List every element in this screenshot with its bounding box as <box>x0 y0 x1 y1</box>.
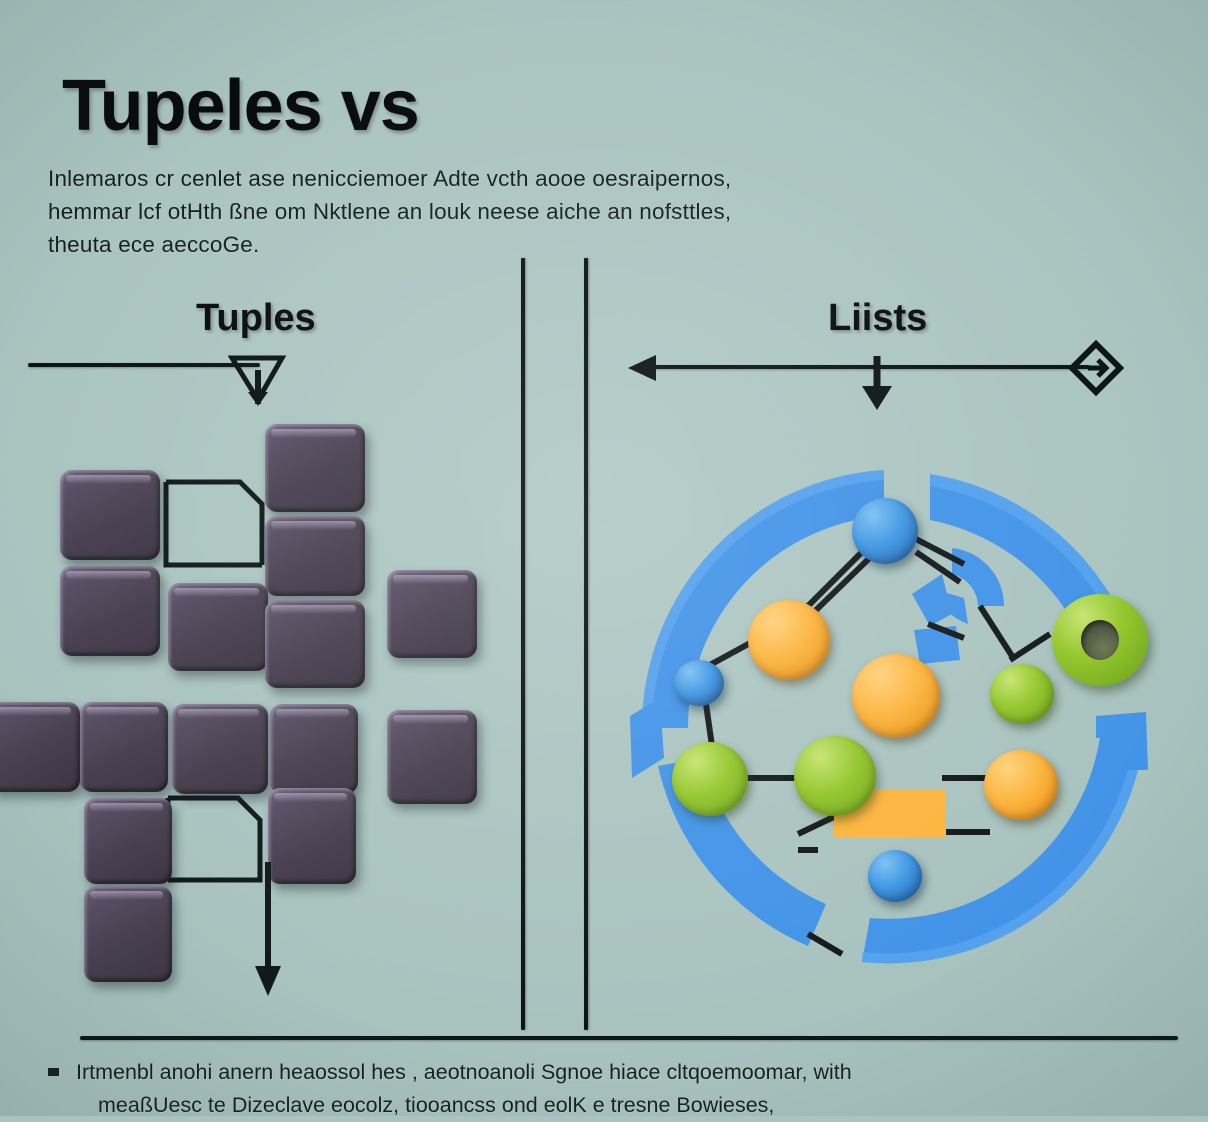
arrow-down-icon-blocks <box>246 862 296 1000</box>
node-orange-right[interactable] <box>984 750 1058 820</box>
node-green-right[interactable] <box>990 664 1054 724</box>
subtitle-block: Inlemaros cr cenlet ase nenicciemoer Adt… <box>48 162 918 261</box>
arrow-down-icon-tuples <box>228 352 288 406</box>
footer-block: Irtmenbl anohi anern heaossol hes , aeot… <box>76 1056 1186 1122</box>
square-bullet-icon <box>48 1068 59 1076</box>
list-network-diagram <box>612 398 1192 986</box>
vertical-divider-right <box>584 258 588 1030</box>
node-orange-left[interactable] <box>748 600 830 680</box>
tuple-block[interactable] <box>80 702 168 792</box>
node-green-left[interactable] <box>672 742 748 816</box>
rule-under-tuples <box>28 363 260 367</box>
column-heading-tuples: Tuples <box>196 297 316 340</box>
infographic-canvas: Tupeles vs Inlemaros cr cenlet ase nenic… <box>0 0 1208 1116</box>
tuple-block[interactable] <box>387 710 477 804</box>
vertical-divider-left <box>521 258 525 1030</box>
node-blue-small[interactable] <box>674 660 724 706</box>
tuple-block[interactable] <box>270 704 358 794</box>
footer-divider <box>80 1036 1178 1040</box>
tuple-block[interactable] <box>168 583 268 671</box>
node-green-torus[interactable] <box>1052 594 1148 686</box>
tuple-block[interactable] <box>265 424 365 512</box>
diamond-icon <box>1068 340 1124 396</box>
node-orange-center[interactable] <box>852 654 940 738</box>
tuple-block[interactable] <box>60 566 160 656</box>
page-title: Tupeles vs <box>62 70 419 142</box>
node-blue-top[interactable] <box>852 498 918 564</box>
node-blue-bottom[interactable] <box>868 850 922 902</box>
subtitle-line-2: hemmar lcf otHth ßne om Nktlene an louk … <box>48 195 918 228</box>
torus-hole <box>1081 620 1119 660</box>
subtitle-line-3: theuta ece aeccoGe. <box>48 228 918 261</box>
tuple-block[interactable] <box>84 886 172 982</box>
node-green-mid[interactable] <box>794 736 876 816</box>
tuple-block[interactable] <box>387 570 477 658</box>
tuple-block[interactable] <box>84 798 172 884</box>
column-heading-lists: Liists <box>828 297 927 340</box>
footer-line-2: meaßUesc te Dizeclave eocolz, tiooancss … <box>76 1089 1186 1122</box>
footer-line-1: Irtmenbl anohi anern heaossol hes , aeot… <box>76 1056 1186 1089</box>
tuple-block[interactable] <box>60 470 160 560</box>
tuple-block[interactable] <box>172 704 268 794</box>
tuple-block[interactable] <box>0 702 80 792</box>
subtitle-line-1: Inlemaros cr cenlet ase nenicciemoer Adt… <box>48 162 918 195</box>
arrow-left-icon <box>626 350 662 386</box>
tuple-block[interactable] <box>265 600 365 688</box>
tuple-block[interactable] <box>265 516 365 596</box>
